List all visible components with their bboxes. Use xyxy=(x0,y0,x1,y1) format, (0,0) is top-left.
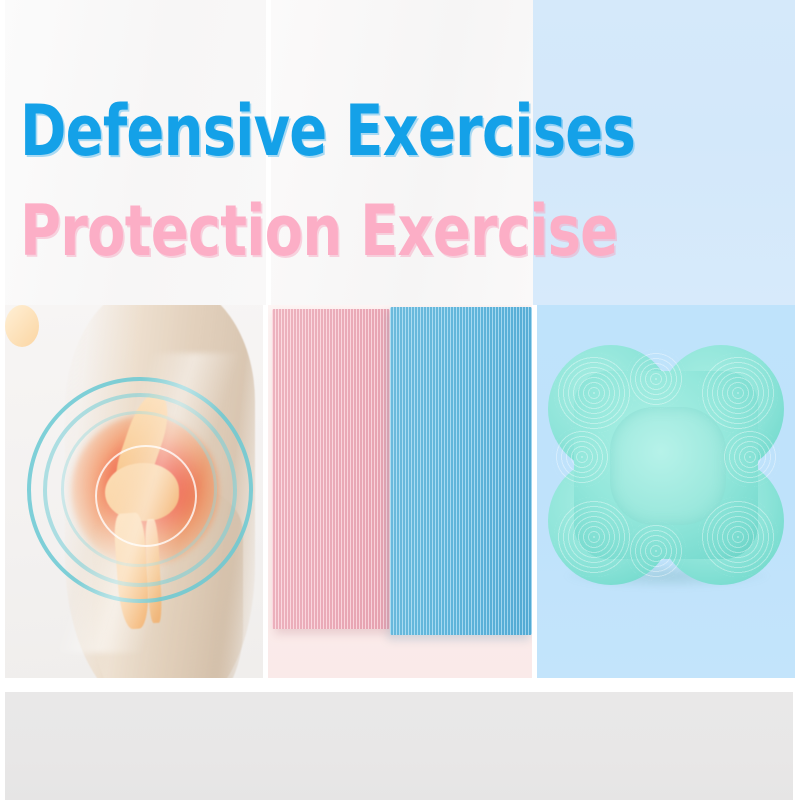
headline-secondary: Protection Exercise xyxy=(20,196,617,266)
footer-edge-left xyxy=(0,683,5,800)
pad-texture-swirl-icon xyxy=(626,521,686,581)
pad-texture-swirl-icon xyxy=(554,497,634,577)
pad-texture-swirl-icon xyxy=(626,349,686,409)
yoga-mat-pink xyxy=(272,309,390,629)
gallery-seam-left xyxy=(0,305,5,683)
banner-canvas: Defensive Exercises Protection Exercise xyxy=(0,0,800,800)
footer-edge-right xyxy=(793,683,800,800)
product-gallery-row xyxy=(0,305,800,683)
leg-highlight-sheen xyxy=(45,353,263,653)
patella-bone-shape xyxy=(5,305,39,347)
footer-panel xyxy=(5,692,793,800)
headline-primary: Defensive Exercises xyxy=(20,96,635,166)
footer-gap xyxy=(0,683,800,692)
pad-texture-swirl-icon xyxy=(720,427,780,487)
pad-center-cushion xyxy=(610,407,726,525)
pad-texture-swirl-icon xyxy=(698,497,778,577)
gallery-seam-right xyxy=(795,305,800,683)
gallery-cell-knee-anatomy[interactable] xyxy=(5,305,263,678)
yoga-mat-blue xyxy=(390,307,532,635)
hero-title-block: Defensive Exercises Protection Exercise xyxy=(0,0,800,305)
gallery-seam-first xyxy=(263,305,268,683)
pad-texture-swirl-icon xyxy=(554,353,634,433)
gallery-cell-exercise-mats[interactable] xyxy=(268,305,532,678)
knee-pad-product xyxy=(548,345,784,585)
pad-texture-swirl-icon xyxy=(552,427,612,487)
gallery-cell-knee-pad[interactable] xyxy=(536,305,795,678)
gallery-seam-second xyxy=(532,305,537,683)
hero-section: Defensive Exercises Protection Exercise xyxy=(0,0,800,305)
pad-texture-swirl-icon xyxy=(698,353,778,433)
